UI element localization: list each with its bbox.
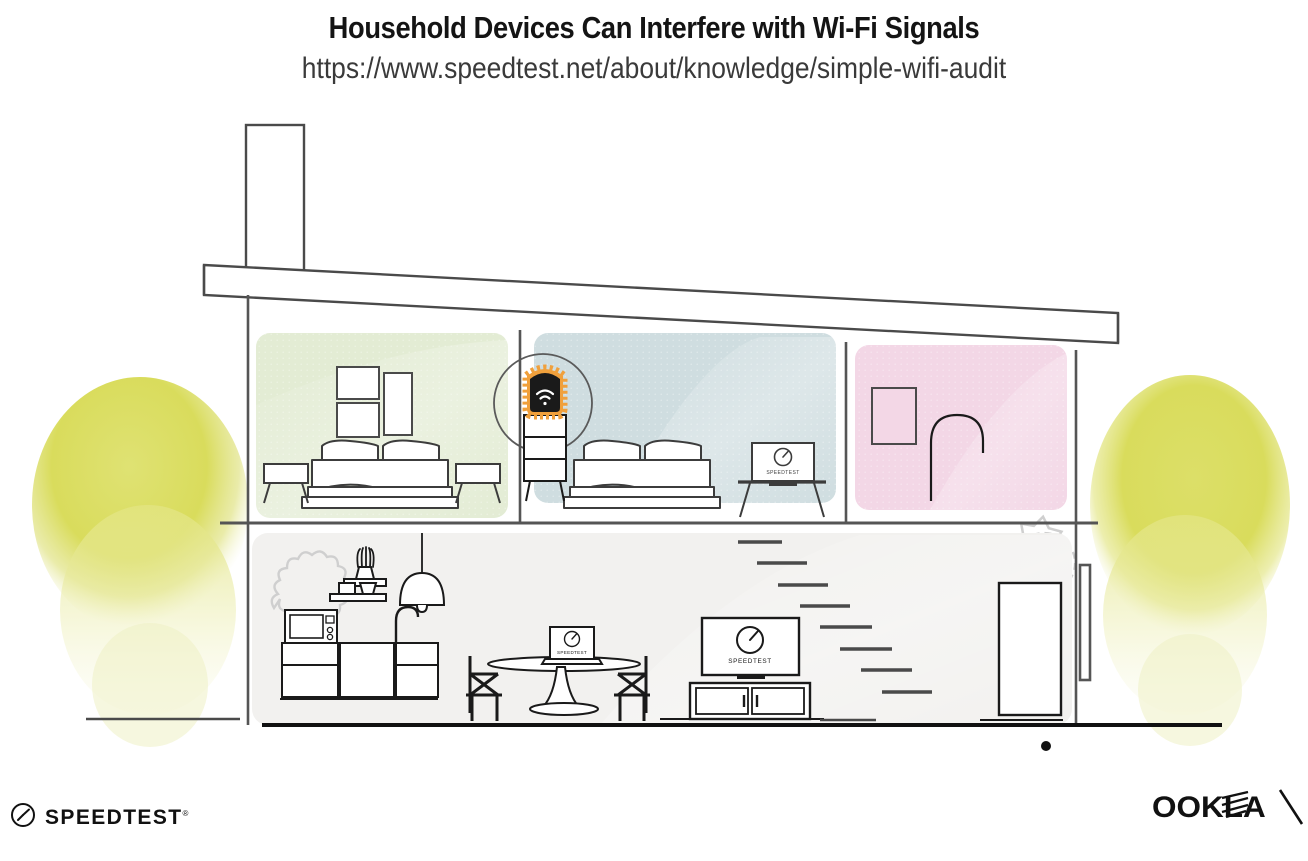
monitor-speedtest: SPEEDTEST bbox=[752, 443, 814, 486]
ookla-slash bbox=[1280, 790, 1302, 824]
speedtest-wordmark: SPEEDTEST® bbox=[45, 806, 188, 830]
header: Household Devices Can Interfere with Wi-… bbox=[0, 0, 1308, 86]
pillow-right bbox=[645, 441, 701, 460]
wall-frame-pink bbox=[872, 388, 916, 444]
screen-label: SPEEDTEST bbox=[557, 650, 587, 655]
ookla-logo: OOKLA bbox=[1152, 784, 1308, 835]
bed-frame bbox=[564, 497, 720, 508]
bed-base bbox=[570, 487, 714, 497]
infographic-page: Household Devices Can Interfere with Wi-… bbox=[0, 0, 1308, 861]
ookla-wordmark: OOKLA bbox=[1152, 790, 1266, 824]
frame-1 bbox=[337, 367, 379, 399]
speedtest-logo: SPEEDTEST® bbox=[10, 802, 188, 833]
router-body bbox=[530, 373, 560, 412]
pillow-left bbox=[584, 441, 640, 460]
house-illustration: SPEEDTEST bbox=[0, 105, 1308, 765]
wall-frames-green bbox=[337, 367, 412, 437]
bed-frame bbox=[302, 497, 458, 508]
screen-label: SPEEDTEST bbox=[766, 470, 799, 476]
monitor-stand bbox=[769, 482, 797, 486]
chimney bbox=[246, 125, 304, 275]
frame-2 bbox=[337, 403, 379, 437]
room-bedroom-blue: SPEEDTEST bbox=[494, 333, 836, 517]
kitchen-counters bbox=[282, 643, 438, 697]
pillow-left bbox=[322, 441, 378, 460]
foliage-left bbox=[32, 377, 248, 747]
roof-structure bbox=[204, 125, 1118, 343]
tv-stand bbox=[737, 675, 765, 679]
microwave bbox=[285, 610, 337, 643]
footer: SPEEDTEST® OOKLA bbox=[0, 766, 1308, 861]
speedtest-label: SPEEDTEST bbox=[45, 806, 182, 829]
window-right bbox=[1080, 565, 1090, 680]
media-console bbox=[690, 683, 810, 719]
source-url: https://www.speedtest.net/about/knowledg… bbox=[78, 52, 1229, 87]
table-base bbox=[530, 703, 598, 715]
screen-label: SPEEDTEST bbox=[728, 658, 771, 665]
page-title: Household Devices Can Interfere with Wi-… bbox=[78, 10, 1229, 46]
frame-3 bbox=[384, 373, 412, 435]
bowl-2 bbox=[360, 583, 376, 594]
pillow-right bbox=[383, 441, 439, 460]
television-speedtest: SPEEDTEST bbox=[702, 618, 799, 679]
speedtest-trademark: ® bbox=[182, 809, 188, 818]
room-bedroom-green bbox=[256, 333, 508, 518]
room-living-kitchen: SPEEDTEST bbox=[252, 533, 1072, 751]
speedometer-icon bbox=[10, 802, 36, 833]
door-knob bbox=[1041, 741, 1051, 751]
bowl-1 bbox=[339, 583, 355, 594]
bed-base bbox=[308, 487, 452, 497]
foliage-right bbox=[1090, 375, 1290, 746]
wifi-router bbox=[527, 369, 563, 415]
laptop-speedtest: SPEEDTEST bbox=[542, 627, 602, 664]
roof-slab bbox=[204, 265, 1118, 343]
